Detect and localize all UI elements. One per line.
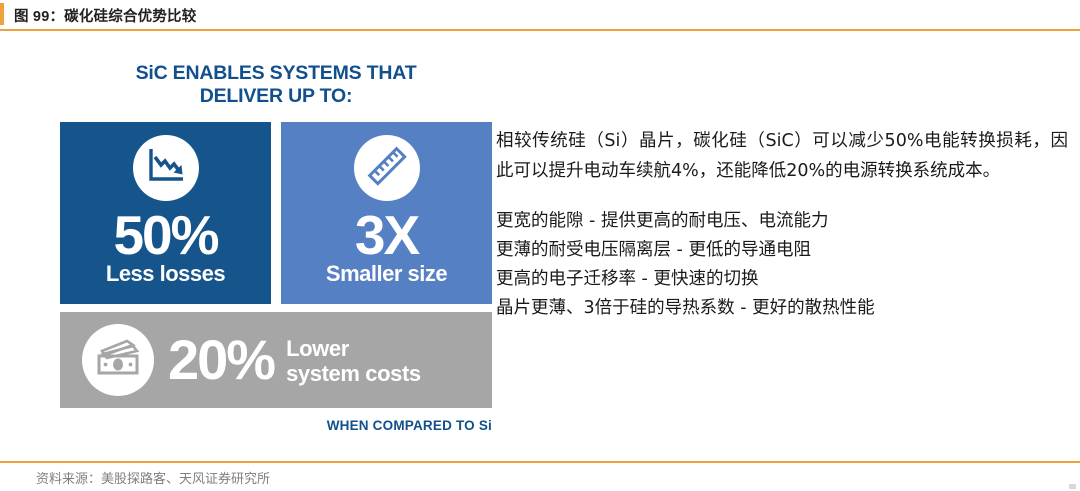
ruler-icon	[365, 144, 409, 193]
title-divider	[0, 29, 1080, 31]
list-item: 更宽的能隙 - 提供更高的耐电压、电流能力	[496, 207, 1068, 236]
title-accent-bar	[0, 3, 4, 25]
intro-paragraph: 相较传统硅（Si）晶片，碳化硅（SiC）可以减少50%电能转换损耗，因此可以提升…	[496, 126, 1068, 186]
page-corner-mark	[1069, 484, 1076, 489]
stat-label-less-losses: Less losses	[106, 262, 225, 286]
copy-column: 相较传统硅（Si）晶片，碳化硅（SiC）可以减少50%电能转换损耗，因此可以提升…	[496, 126, 1068, 323]
stat-panel-lower-system-costs: 20% Lower system costs	[60, 312, 492, 408]
infographic-heading-line-2: DELIVER UP TO:	[60, 85, 492, 108]
icon-circle-ruler	[354, 135, 420, 201]
stat-label-smaller-size: Smaller size	[326, 262, 447, 286]
figure-title-bar: 图 99：碳化硅综合优势比较	[0, 0, 1080, 30]
stat-value-smaller-size: 3X	[355, 207, 418, 263]
footer-divider	[0, 461, 1080, 463]
stat-panel-row: 50% Less losses 3X Smaller size	[60, 122, 492, 304]
infographic-heading: SiC ENABLES SYSTEMS THAT DELIVER UP TO:	[60, 60, 492, 108]
cost-label-line-2: system costs	[286, 361, 421, 386]
cost-label-line-1: Lower	[286, 336, 421, 361]
sic-advantages-infographic: SiC ENABLES SYSTEMS THAT DELIVER UP TO: …	[60, 60, 492, 445]
cash-money-icon	[93, 336, 143, 385]
list-item: 更薄的耐受电压隔离层 - 更低的导通电阻	[496, 236, 1068, 265]
infographic-footnote: WHEN COMPARED TO Si	[60, 418, 492, 433]
stat-panel-less-losses: 50% Less losses	[60, 122, 271, 304]
stat-panel-smaller-size: 3X Smaller size	[281, 122, 492, 304]
icon-circle-money	[82, 324, 154, 396]
source-note: 资料来源：美股探路客、天风证券研究所	[36, 468, 270, 487]
list-item: 晶片更薄、3倍于硅的导热系数 - 更好的散热性能	[496, 294, 1068, 323]
stat-value-lower-system-costs: 20%	[168, 332, 274, 388]
stat-value-less-losses: 50%	[113, 207, 217, 263]
stat-label-lower-system-costs: Lower system costs	[286, 336, 421, 386]
icon-circle-chart	[133, 135, 199, 201]
list-item: 更高的电子迁移率 - 更快速的切换	[496, 265, 1068, 294]
benefit-list: 更宽的能隙 - 提供更高的耐电压、电流能力 更薄的耐受电压隔离层 - 更低的导通…	[496, 207, 1068, 323]
infographic-heading-line-1: SiC ENABLES SYSTEMS THAT	[60, 62, 492, 85]
page-title: 图 99：碳化硅综合优势比较	[14, 5, 196, 26]
declining-chart-icon	[144, 144, 188, 193]
